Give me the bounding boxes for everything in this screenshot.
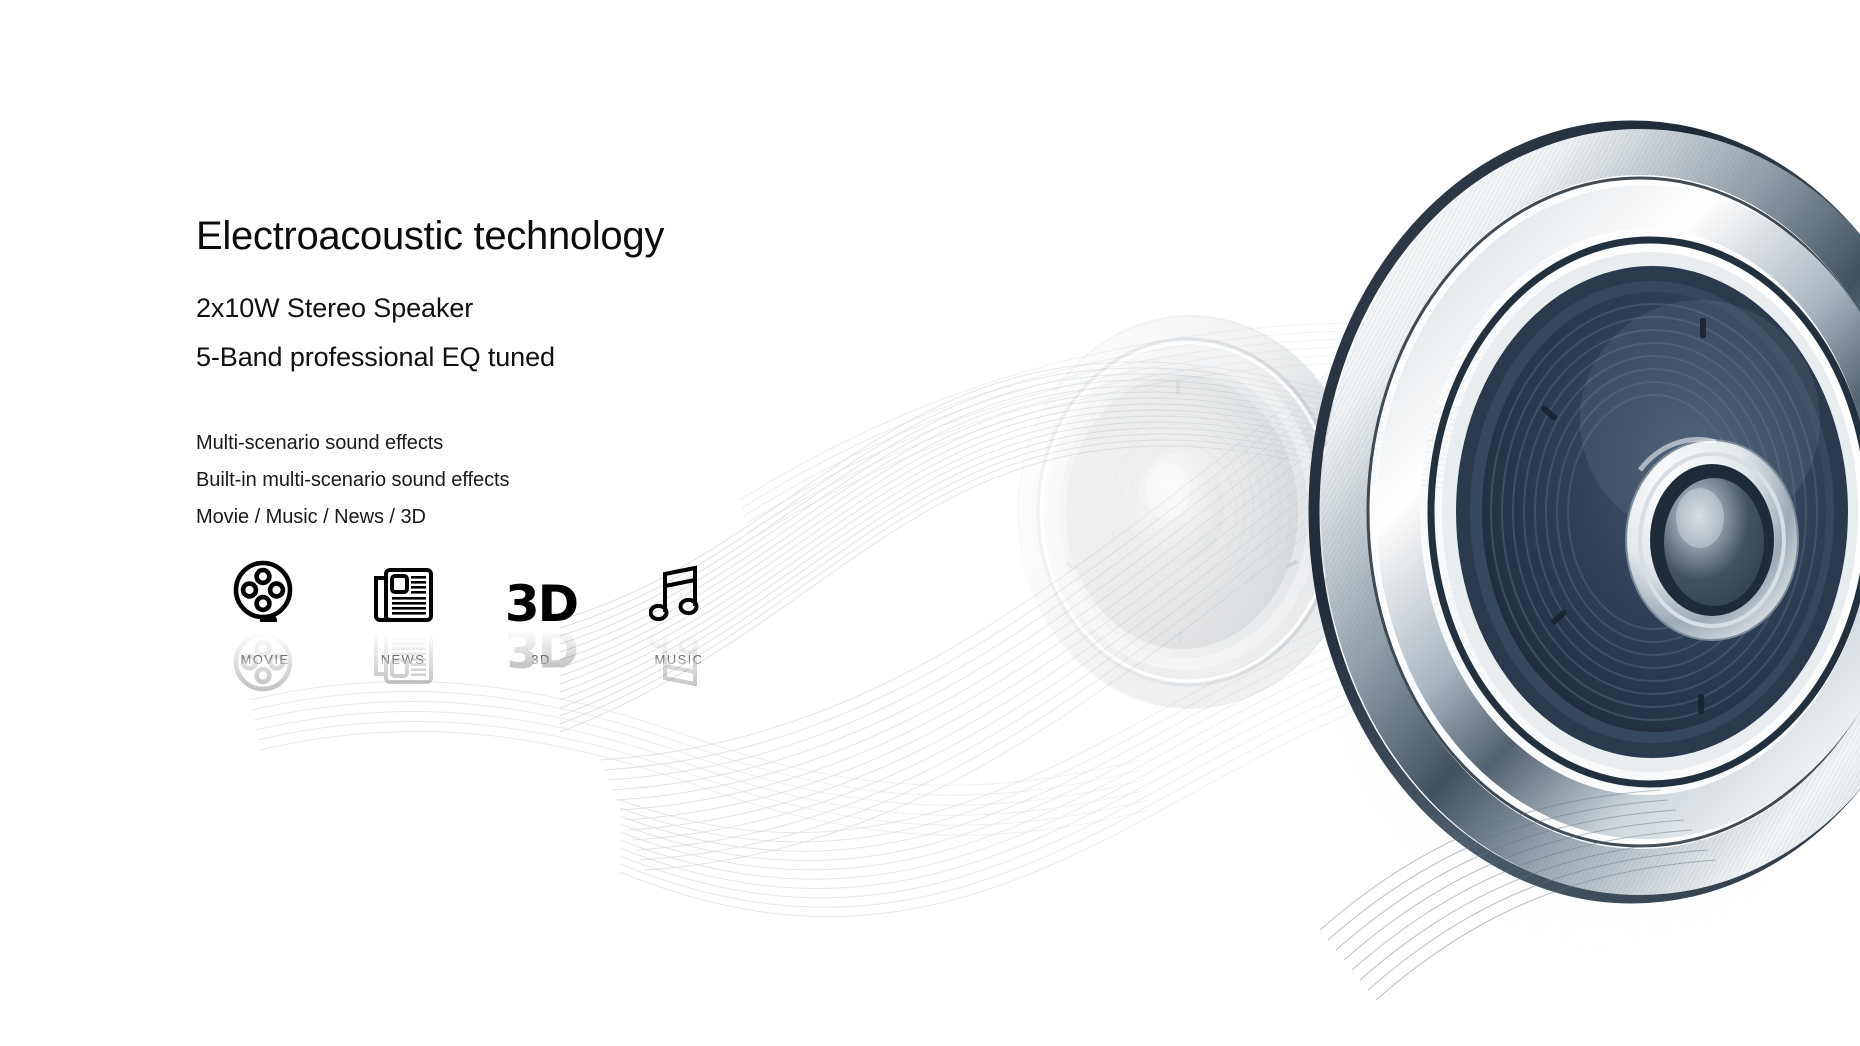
film-reel-icon: [233, 560, 297, 626]
sound-mode-news[interactable]: NEWS: [334, 548, 472, 667]
primary-speaker: [1270, 126, 1860, 990]
page-title: Electroacoustic technology: [196, 214, 976, 259]
feature-line-2: Built-in multi-scenario sound effects: [196, 470, 976, 490]
sound-mode-label-3d: 3D: [531, 652, 550, 667]
rim-hatch-lines: [1320, 790, 1716, 1000]
sound-mode-label-news: NEWS: [381, 652, 426, 667]
copy-block: Electroacoustic technology 2x10W Stereo …: [196, 214, 976, 544]
newspaper-icon: [370, 564, 436, 626]
sound-mode-music[interactable]: MUSIC: [610, 548, 748, 667]
sound-mode-label-movie: MOVIE: [241, 652, 290, 667]
sound-mode-3d[interactable]: 3D 3D 3D: [472, 548, 610, 667]
product-feature-banner: Electroacoustic technology 2x10W Stereo …: [0, 0, 1860, 1046]
spec-eq: 5-Band professional EQ tuned: [196, 344, 976, 371]
sound-mode-label-music: MUSIC: [655, 652, 704, 667]
spec-power: 2x10W Stereo Speaker: [196, 295, 976, 322]
feature-list: Multi-scenario sound effects Built-in mu…: [196, 433, 976, 527]
sound-mode-movie[interactable]: MOVIE: [196, 548, 334, 667]
sound-mode-icons: MOVIE: [196, 548, 748, 667]
secondary-speaker: [973, 284, 1403, 740]
three-d-icon: 3D: [505, 582, 577, 626]
feature-line-3: Movie / Music / News / 3D: [196, 507, 976, 527]
music-note-icon: [649, 560, 709, 626]
feature-line-1: Multi-scenario sound effects: [196, 433, 976, 453]
